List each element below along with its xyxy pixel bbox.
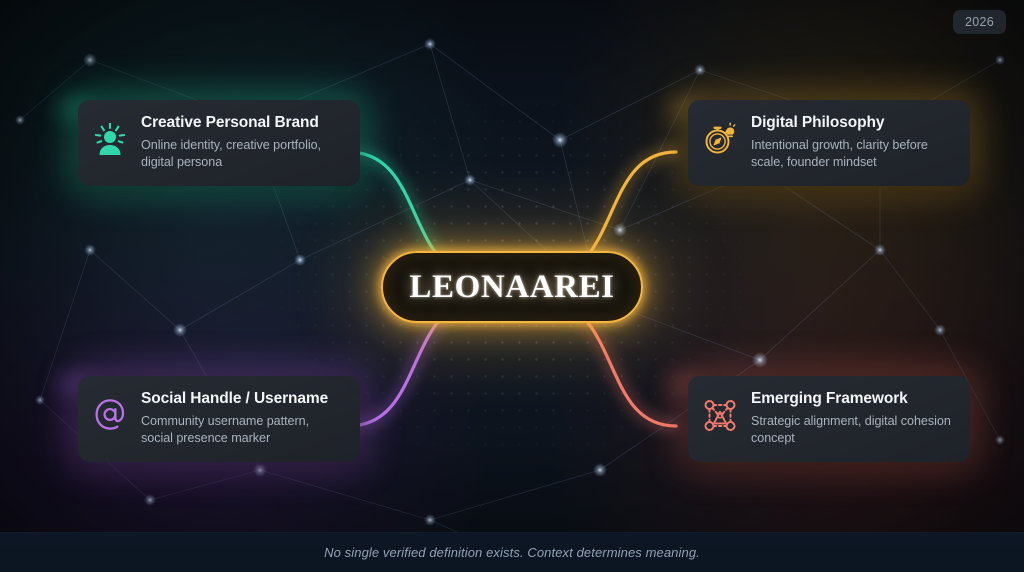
footer-bar: No single verified definition exists. Co… (0, 532, 1024, 572)
card-title: Social Handle / Username (141, 390, 344, 409)
at-sign-icon (92, 395, 128, 435)
card-title: Digital Philosophy (751, 114, 954, 133)
compass-lightbulb-icon (702, 119, 738, 159)
mindmap-canvas: Creative Personal Brand Online identity,… (0, 0, 1024, 572)
card-description: Online identity, creative portfolio, dig… (141, 137, 344, 173)
card-description: Community username pattern, social prese… (141, 413, 344, 449)
center-term-node[interactable]: LEONAAREI (381, 251, 643, 323)
network-nodes-icon (702, 395, 738, 435)
card-title: Creative Personal Brand (141, 114, 344, 133)
card-description: Intentional growth, clarity before scale… (751, 137, 954, 173)
card-description: Strategic alignment, digital cohesion co… (751, 413, 954, 449)
person-idea-icon (92, 119, 128, 159)
center-term-label: LEONAAREI (409, 269, 614, 306)
year-badge[interactable]: 2026 (953, 10, 1006, 34)
card-title: Emerging Framework (751, 390, 954, 409)
footer-note: No single verified definition exists. Co… (324, 545, 700, 560)
